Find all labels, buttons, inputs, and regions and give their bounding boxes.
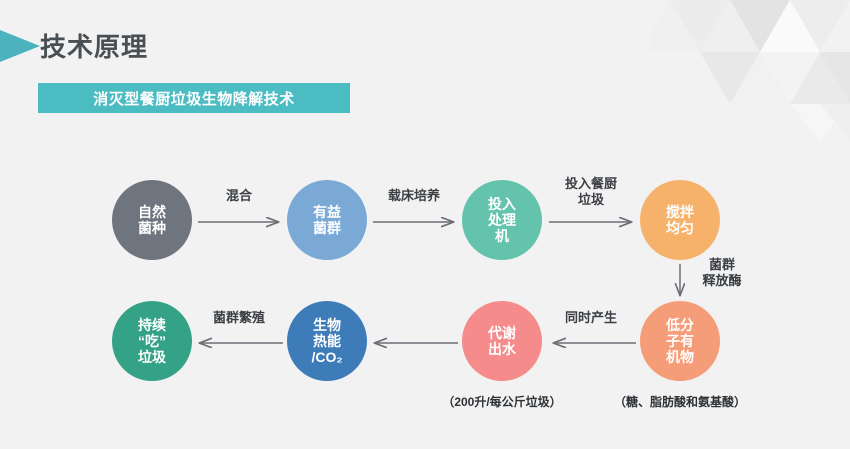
page-title: 技术原理 <box>40 27 148 64</box>
edge-label-bed-culture: 载床培养 <box>370 188 458 204</box>
subtitle-banner-label: 消灭型餐厨垃圾生物降解技术 <box>93 88 295 109</box>
flow-node-label: 投入 处理 机 <box>488 196 516 244</box>
decorative-triangles-icon <box>650 0 850 140</box>
flow-node-label: 搅拌 均匀 <box>666 204 694 236</box>
slide-canvas: 技术原理 消灭型餐厨垃圾生物降解技术 自然 菌种 有益 菌群 投入 处理 机 搅… <box>0 0 850 449</box>
flow-node-label: 有益 菌群 <box>313 204 341 236</box>
flow-node-beneficial-flora[interactable]: 有益 菌群 <box>287 180 367 260</box>
flow-node-label: 代谢 出水 <box>488 325 516 357</box>
flow-node-into-processor[interactable]: 投入 处理 机 <box>462 180 542 260</box>
edge-label-mix: 混合 <box>209 188 269 204</box>
flow-node-label: 自然 菌种 <box>138 204 166 236</box>
flow-node-label: 低分 子有 机物 <box>666 317 694 365</box>
flow-node-natural-strain[interactable]: 自然 菌种 <box>112 180 192 260</box>
subtitle-banner: 消灭型餐厨垃圾生物降解技术 <box>38 83 350 113</box>
flow-node-label: 生物 热能 /CO₂ <box>311 317 342 365</box>
flow-node-low-molecular[interactable]: 低分 子有 机物 <box>640 301 720 381</box>
flow-node-bio-heat-co2[interactable]: 生物 热能 /CO₂ <box>287 301 367 381</box>
caption-low-molecular: （糖、脂肪酸和氨基酸） <box>580 393 780 410</box>
caption-metabolic-water: （200升/每公斤垃圾） <box>402 393 602 410</box>
flow-node-metabolic-water[interactable]: 代谢 出水 <box>462 301 542 381</box>
flow-node-label: 持续 “吃” 垃圾 <box>138 317 166 365</box>
triangle-right-icon <box>0 30 40 62</box>
edge-label-enzyme-release: 菌群 释放酶 <box>690 257 754 288</box>
edge-label-add-food-waste: 投入餐厨 垃圾 <box>547 176 635 207</box>
edge-label-flora-multiply: 菌群繁殖 <box>195 310 283 326</box>
flow-node-stir-evenly[interactable]: 搅拌 均匀 <box>640 180 720 260</box>
flow-node-keep-eating[interactable]: 持续 “吃” 垃圾 <box>112 301 192 381</box>
edge-label-generated-at-same-time: 同时产生 <box>547 310 635 326</box>
